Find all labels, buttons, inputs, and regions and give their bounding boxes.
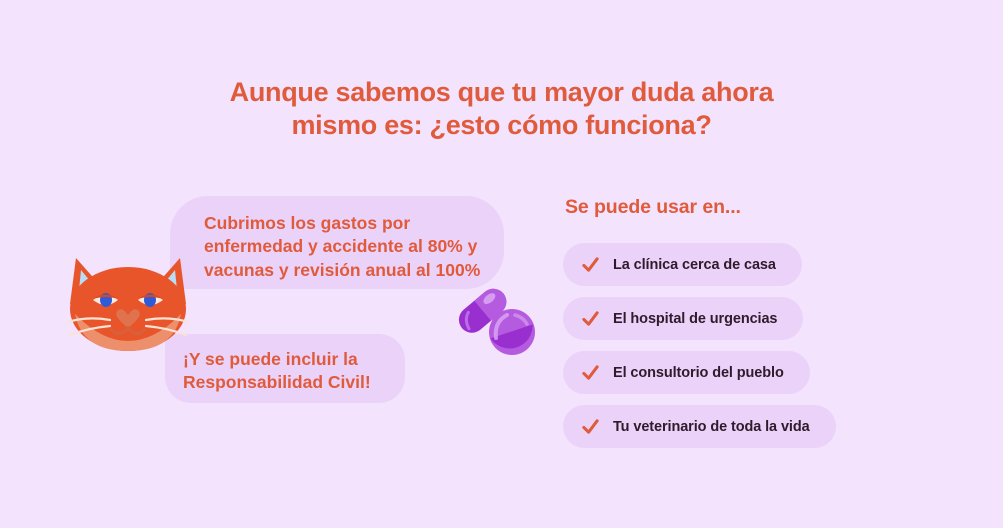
use-item-veterinario[interactable]: Tu veterinario de toda la vida [563,405,836,448]
uses-column: Se puede usar en... La clínica cerca de … [563,196,983,459]
use-item-clinic[interactable]: La clínica cerca de casa [563,243,802,286]
check-icon [581,417,600,436]
use-item-label: Tu veterinario de toda la vida [613,419,810,435]
coverage-card: Cubrimos los gastos por enfermedad y acc… [170,196,504,289]
coverage-card-text: Cubrimos los gastos por enfermedad y acc… [204,212,482,282]
check-icon [581,363,600,382]
promo-slide: Aunque sabemos que tu mayor duda ahora m… [0,0,1003,528]
check-icon [581,255,600,274]
use-item-label: El consultorio del pueblo [613,365,784,381]
use-item-consultorio[interactable]: El consultorio del pueblo [563,351,810,394]
use-item-hospital[interactable]: El hospital de urgencias [563,297,803,340]
liability-card: ¡Y se puede incluir la Responsabilidad C… [165,334,405,403]
check-icon [581,309,600,328]
liability-card-text: ¡Y se puede incluir la Responsabilidad C… [183,348,387,394]
left-column: Cubrimos los gastos por enfermedad y acc… [0,0,545,528]
use-item-label: El hospital de urgencias [613,311,777,327]
pills-illustration [452,282,544,358]
cat-face-illustration [62,252,194,352]
uses-heading: Se puede usar en... [563,196,983,219]
use-item-label: La clínica cerca de casa [613,257,776,273]
